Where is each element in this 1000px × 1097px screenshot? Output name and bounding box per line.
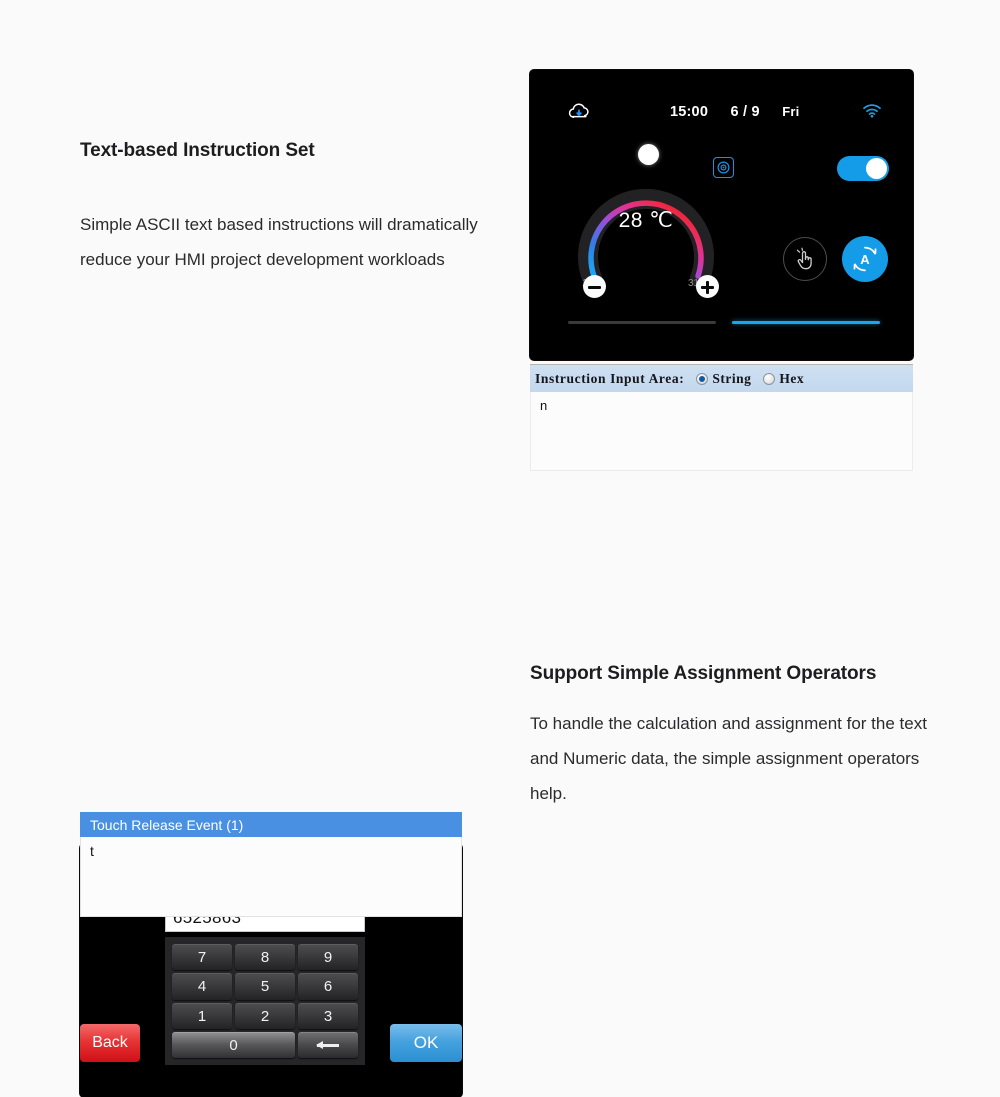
touch-release-event-header: Touch Release Event (1) bbox=[80, 812, 462, 837]
keypad-key-4[interactable]: 4 bbox=[172, 973, 232, 999]
hand-touch-icon[interactable] bbox=[783, 237, 827, 281]
ok-button[interactable]: OK bbox=[390, 1024, 462, 1062]
feature-body-assignment-operators: To handle the calculation and assignment… bbox=[530, 706, 950, 811]
feature-body-text-instruction: Simple ASCII text based instructions wil… bbox=[80, 207, 480, 277]
instruction-input-label: Instruction Input Area: bbox=[535, 371, 684, 387]
numeric-keypad[interactable]: 7 8 9 4 5 6 1 2 3 0 bbox=[165, 937, 365, 1065]
radio-dot-hex[interactable] bbox=[763, 373, 775, 385]
radio-option-hex[interactable]: Hex bbox=[763, 371, 804, 387]
touch-release-event-textarea[interactable]: t bbox=[80, 837, 462, 917]
keypad-key-1[interactable]: 1 bbox=[172, 1003, 232, 1029]
keypad-key-8[interactable]: 8 bbox=[235, 944, 295, 970]
arrow-left-glyph bbox=[317, 1044, 339, 1047]
keypad-key-5[interactable]: 5 bbox=[235, 973, 295, 999]
wifi-icon bbox=[863, 104, 881, 123]
temperature-decrease-button[interactable] bbox=[583, 275, 606, 298]
instruction-input-area: Instruction Input Area: String Hex n bbox=[530, 364, 913, 471]
svg-text:A: A bbox=[860, 252, 870, 267]
keypad-key-7[interactable]: 7 bbox=[172, 944, 232, 970]
brightness-slider-right[interactable] bbox=[732, 321, 880, 324]
feature-block-assignment-operators: Support Simple Assignment Operators To h… bbox=[530, 658, 950, 811]
cloud-download-icon bbox=[568, 103, 590, 126]
hmi-status-bar: 15:00 6 / 9 Fri bbox=[530, 103, 913, 125]
radio-dot-string[interactable] bbox=[696, 373, 708, 385]
status-datetime: 15:00 6 / 9 Fri bbox=[670, 103, 799, 121]
dial-knob-handle[interactable] bbox=[638, 144, 659, 165]
instruction-input-header: Instruction Input Area: String Hex bbox=[530, 364, 913, 392]
status-time: 15:00 bbox=[670, 104, 708, 120]
radio-label-hex: Hex bbox=[779, 371, 804, 387]
brightness-slider-left[interactable] bbox=[568, 321, 716, 324]
backspace-arrow-icon[interactable] bbox=[298, 1032, 358, 1058]
power-toggle-switch[interactable] bbox=[837, 156, 889, 181]
touch-release-event-area: Touch Release Event (1) t bbox=[80, 812, 462, 917]
keypad-key-0[interactable]: 0 bbox=[172, 1032, 295, 1058]
radio-label-string: String bbox=[712, 371, 751, 387]
status-date: 6 / 9 bbox=[731, 104, 760, 120]
feature-heading-assignment-operators: Support Simple Assignment Operators bbox=[530, 658, 950, 690]
feature-heading-text-instruction: Text-based Instruction Set bbox=[80, 135, 480, 167]
status-day: Fri bbox=[782, 104, 799, 119]
radio-option-string[interactable]: String bbox=[696, 371, 751, 387]
feature-block-text-instruction: Text-based Instruction Set Simple ASCII … bbox=[80, 135, 480, 277]
toggle-knob bbox=[866, 158, 887, 179]
keypad-key-6[interactable]: 6 bbox=[298, 973, 358, 999]
temperature-value: 28 ℃ bbox=[562, 208, 730, 233]
keypad-key-9[interactable]: 9 bbox=[298, 944, 358, 970]
keypad-key-2[interactable]: 2 bbox=[235, 1003, 295, 1029]
back-button[interactable]: Back bbox=[80, 1024, 140, 1062]
target-icon[interactable] bbox=[713, 157, 734, 178]
keypad-key-3[interactable]: 3 bbox=[298, 1003, 358, 1029]
hmi-thermostat-screen[interactable]: 15:00 6 / 9 Fri bbox=[530, 70, 913, 360]
auto-mode-icon[interactable]: A bbox=[842, 236, 888, 282]
instruction-input-textarea[interactable]: n bbox=[530, 392, 913, 471]
temperature-increase-button[interactable] bbox=[696, 275, 719, 298]
